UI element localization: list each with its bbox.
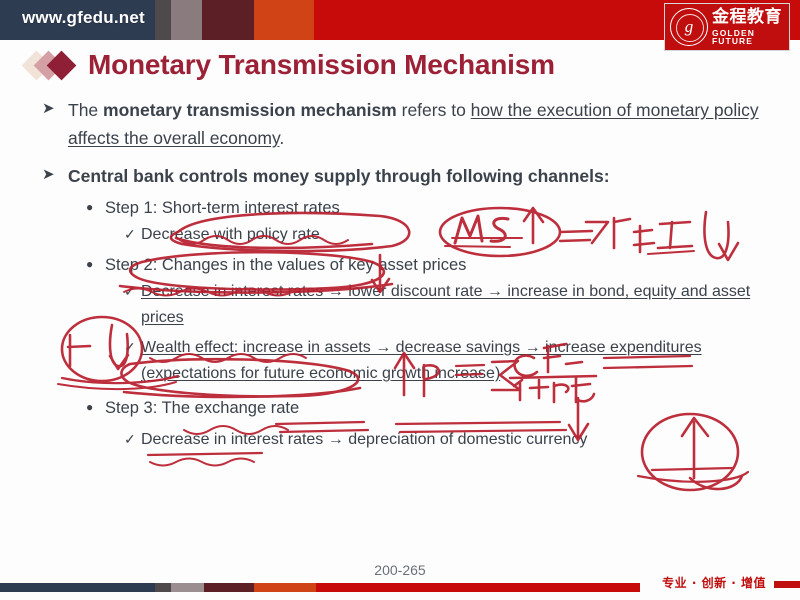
step-2-sub-1-text: Decrease in interest rates → lower disco… — [141, 279, 756, 330]
slide-body: ➤ The monetary transmission mechanism re… — [0, 96, 800, 453]
step-3: ● Step 3: The exchange rate — [86, 395, 760, 422]
slide: www.gfedu.net g 金程教育 GOLDEN FUTURE Monet… — [0, 0, 800, 600]
definition-text: The monetary transmission mechanism refe… — [68, 96, 760, 153]
step-2-sub-2: ✓ Wealth effect: increase in assets → de… — [124, 335, 756, 386]
step-2-sub-1: ✓ Decrease in interest rates → lower dis… — [124, 279, 756, 330]
check-bullet-icon: ✓ — [124, 427, 141, 453]
bullet-definition: ➤ The monetary transmission mechanism re… — [42, 96, 760, 153]
step-3-sub-text: Decrease in interest rates → depreciatio… — [141, 427, 587, 453]
dot-bullet-icon: ● — [86, 195, 105, 222]
page-title: Monetary Transmission Mechanism — [88, 49, 555, 81]
color-segment-1 — [0, 583, 155, 592]
step-2: ● Step 2: Changes in the values of key a… — [86, 252, 760, 279]
step-1-sub: ✓ Decrease with policy rate — [124, 222, 756, 248]
definition-term: monetary transmission mechanism — [103, 100, 397, 120]
bullet-channels: ➤ Central bank controls money supply thr… — [42, 162, 760, 190]
color-segment-3 — [171, 583, 204, 592]
spacer — [0, 386, 800, 395]
color-segment-2 — [155, 0, 171, 40]
step-1-sub-text: Decrease with policy rate — [141, 222, 320, 248]
color-segment-5 — [254, 583, 316, 592]
footer-tagline: 专业 · 创新 · 增值 — [662, 574, 766, 591]
step-2-sub-2-text: Wealth effect: increase in assets → decr… — [141, 335, 756, 386]
arrow-bullet-icon: ➤ — [42, 96, 68, 153]
footer-bar — [0, 583, 640, 592]
dot-bullet-icon: ● — [86, 395, 105, 422]
logo-chinese-name: 金程教育 — [712, 9, 789, 26]
seal-monogram: g — [671, 9, 707, 45]
definition-period: . — [279, 128, 284, 148]
definition-part-a: The — [68, 100, 103, 120]
color-segment-4 — [202, 0, 254, 40]
site-url: www.gfedu.net — [22, 8, 145, 28]
step-2-text: Step 2: Changes in the values of key ass… — [105, 252, 466, 279]
check-bullet-icon: ✓ — [124, 279, 141, 330]
step-1: ● Step 1: Short-term interest rates — [86, 195, 760, 222]
color-segment-3 — [171, 0, 202, 40]
seal-icon: g — [670, 8, 708, 46]
check-bullet-icon: ✓ — [124, 335, 141, 386]
channels-text: Central bank controls money supply throu… — [68, 162, 610, 190]
color-segment-6 — [316, 583, 640, 592]
check-bullet-icon: ✓ — [124, 222, 141, 248]
spacer — [0, 153, 800, 162]
step-3-text: Step 3: The exchange rate — [105, 395, 299, 422]
logo-english-name: GOLDEN FUTURE — [712, 29, 789, 46]
arrow-bullet-icon: ➤ — [42, 162, 68, 190]
dot-bullet-icon: ● — [86, 252, 105, 279]
color-segment-4 — [204, 583, 254, 592]
color-segment-2 — [155, 583, 171, 592]
diamond-bullet-icon — [26, 48, 88, 82]
definition-part-c: refers to — [397, 100, 471, 120]
step-3-sub: ✓ Decrease in interest rates → depreciat… — [124, 427, 756, 453]
brand-logo: g 金程教育 GOLDEN FUTURE — [664, 3, 790, 51]
color-segment-5 — [254, 0, 314, 40]
footer-accent-cap — [774, 581, 800, 588]
title-row: Monetary Transmission Mechanism — [26, 48, 555, 82]
step-1-text: Step 1: Short-term interest rates — [105, 195, 340, 222]
